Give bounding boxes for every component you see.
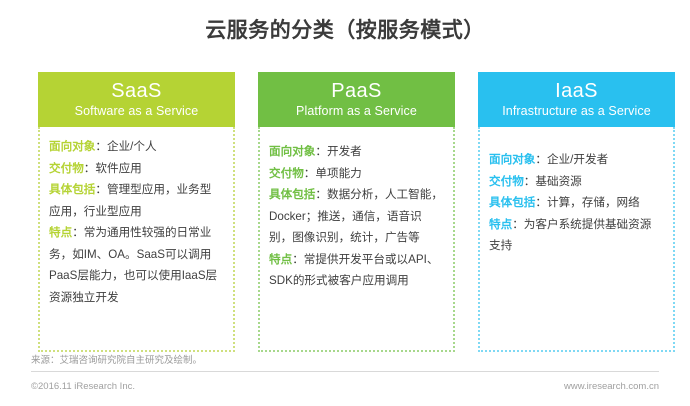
detail-line: 交付物：单项能力 bbox=[269, 163, 445, 185]
column-abbr-paas: PaaS bbox=[331, 80, 382, 103]
column-fullname-saas: Software as a Service bbox=[75, 103, 199, 120]
detail-line: 交付物：基础资源 bbox=[489, 171, 665, 193]
detail-line: 具体包括：数据分析，人工智能， bbox=[269, 184, 445, 206]
column-abbr-iaas: IaaS bbox=[555, 80, 598, 103]
detail-text: 支持 bbox=[489, 239, 512, 252]
column-body-iaas: 面向对象：企业/开发者 交付物：基础资源 具体包括：计算，存储，网络 特点：为客… bbox=[478, 127, 675, 352]
footer-divider bbox=[31, 371, 659, 372]
detail-label: 具体包括 bbox=[489, 196, 535, 209]
detail-label: 交付物 bbox=[489, 175, 524, 188]
column-body-paas: 面向对象：开发者 交付物：单项能力 具体包括：数据分析，人工智能， Docker… bbox=[258, 127, 455, 352]
detail-text: ：基础资源 bbox=[524, 175, 582, 188]
detail-text: 务，如IM、OA。SaaS可以调用 bbox=[49, 248, 211, 261]
detail-text: 应用，行业型应用 bbox=[49, 205, 142, 218]
detail-label: 特点 bbox=[489, 218, 512, 231]
detail-line: 面向对象：企业/开发者 bbox=[489, 149, 665, 171]
infographic-page: 云服务的分类（按服务模式） SaaS Software as a Service… bbox=[0, 0, 690, 406]
detail-line: 务，如IM、OA。SaaS可以调用 bbox=[49, 244, 225, 266]
column-fullname-iaas: Infrastructure as a Service bbox=[502, 103, 651, 120]
detail-line: 应用，行业型应用 bbox=[49, 201, 225, 223]
detail-text: ：企业/个人 bbox=[95, 140, 156, 153]
detail-label: 交付物 bbox=[269, 167, 304, 180]
detail-line: 支持 bbox=[489, 235, 665, 257]
detail-line: 交付物：软件应用 bbox=[49, 158, 225, 180]
detail-text: ：企业/开发者 bbox=[535, 153, 608, 166]
detail-text: ：软件应用 bbox=[84, 162, 142, 175]
detail-text: 资源独立开发 bbox=[49, 291, 119, 304]
column-saas: SaaS Software as a Service 面向对象：企业/个人 交付… bbox=[38, 72, 235, 352]
detail-text: ：为客户系统提供基础资源 bbox=[512, 218, 651, 231]
detail-line: Docker；推送，通信，语音识 bbox=[269, 206, 445, 228]
column-header-paas: PaaS Platform as a Service bbox=[258, 72, 455, 127]
detail-text: ：计算，存储，网络 bbox=[535, 196, 639, 209]
column-paas: PaaS Platform as a Service 面向对象：开发者 交付物：… bbox=[258, 72, 455, 352]
detail-label: 具体包括 bbox=[269, 188, 315, 201]
detail-text: ：管理型应用，业务型 bbox=[95, 183, 211, 196]
detail-text: ：常提供开发平台或以API、 bbox=[292, 253, 438, 266]
column-fullname-paas: Platform as a Service bbox=[296, 103, 417, 120]
footer-copyright: ©2016.11 iResearch Inc. bbox=[31, 380, 135, 394]
detail-label: 面向对象 bbox=[489, 153, 535, 166]
detail-text: PaaS层能力，也可以使用IaaS层 bbox=[49, 269, 217, 282]
column-header-iaas: IaaS Infrastructure as a Service bbox=[478, 72, 675, 127]
page-title: 云服务的分类（按服务模式） bbox=[0, 16, 690, 46]
column-iaas: IaaS Infrastructure as a Service 面向对象：企业… bbox=[478, 72, 675, 352]
footer-website: www.iresearch.com.cn bbox=[564, 380, 659, 394]
detail-text: ：单项能力 bbox=[304, 167, 362, 180]
detail-text: SDK的形式被客户应用调用 bbox=[269, 274, 409, 287]
column-abbr-saas: SaaS bbox=[111, 80, 162, 103]
detail-line: 面向对象：企业/个人 bbox=[49, 136, 225, 158]
source-note: 来源：艾瑞咨询研究院自主研究及绘制。 bbox=[31, 354, 202, 367]
detail-label: 特点 bbox=[269, 253, 292, 266]
detail-line: 别，图像识别，统计，广告等 bbox=[269, 227, 445, 249]
detail-line: 特点：常为通用性较强的日常业 bbox=[49, 222, 225, 244]
detail-label: 交付物 bbox=[49, 162, 84, 175]
detail-text: ：数据分析，人工智能， bbox=[315, 188, 443, 201]
service-model-columns: SaaS Software as a Service 面向对象：企业/个人 交付… bbox=[38, 72, 675, 352]
column-body-saas: 面向对象：企业/个人 交付物：软件应用 具体包括：管理型应用，业务型 应用，行业… bbox=[38, 127, 235, 352]
detail-line: 具体包括：计算，存储，网络 bbox=[489, 192, 665, 214]
column-header-saas: SaaS Software as a Service bbox=[38, 72, 235, 127]
detail-label: 特点 bbox=[49, 226, 72, 239]
detail-text: ：常为通用性较强的日常业 bbox=[72, 226, 211, 239]
detail-text: Docker；推送，通信，语音识 bbox=[269, 210, 422, 223]
detail-line: 特点：常提供开发平台或以API、 bbox=[269, 249, 445, 271]
detail-line: 特点：为客户系统提供基础资源 bbox=[489, 214, 665, 236]
detail-text: 别，图像识别，统计，广告等 bbox=[269, 231, 420, 244]
detail-line: 具体包括：管理型应用，业务型 bbox=[49, 179, 225, 201]
detail-line: PaaS层能力，也可以使用IaaS层 bbox=[49, 265, 225, 287]
detail-text: ：开发者 bbox=[315, 145, 361, 158]
detail-line: 面向对象：开发者 bbox=[269, 141, 445, 163]
detail-label: 面向对象 bbox=[49, 140, 95, 153]
detail-line: 资源独立开发 bbox=[49, 287, 225, 309]
detail-label: 面向对象 bbox=[269, 145, 315, 158]
detail-label: 具体包括 bbox=[49, 183, 95, 196]
detail-line: SDK的形式被客户应用调用 bbox=[269, 270, 445, 292]
